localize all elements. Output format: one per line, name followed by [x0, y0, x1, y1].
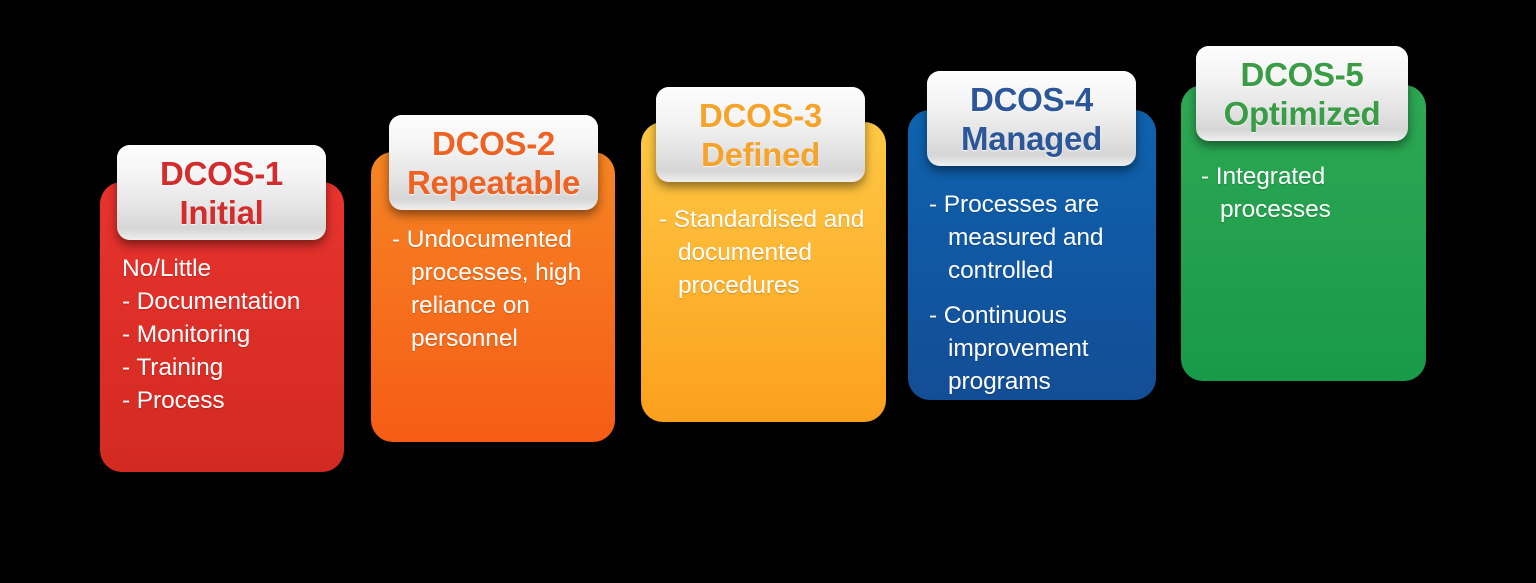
stage-body-dcos-5: - Integrated processes — [1201, 160, 1419, 226]
stage-code: DCOS-3 — [699, 96, 822, 135]
stage-name: Repeatable — [407, 163, 580, 202]
stage-code: DCOS-2 — [432, 124, 555, 163]
stage-name: Optimized — [1224, 94, 1381, 133]
body-line: - Process — [122, 384, 344, 417]
stage-header-dcos-5[interactable]: DCOS-5 Optimized — [1196, 46, 1408, 141]
stage-name: Managed — [961, 119, 1102, 158]
body-line: - Training — [122, 351, 344, 384]
stage-body-dcos-2: - Undocumented processes, high reliance … — [392, 223, 610, 355]
stage-code: DCOS-5 — [1241, 55, 1364, 94]
body-line: - Undocumented processes, high reliance … — [392, 223, 610, 355]
stage-code: DCOS-4 — [970, 80, 1093, 119]
stage-header-dcos-3[interactable]: DCOS-3 Defined — [656, 87, 865, 182]
body-line: - Monitoring — [122, 318, 344, 351]
stage-body-dcos-1: No/Little - Documentation - Monitoring -… — [122, 252, 344, 417]
stage-header-dcos-1[interactable]: DCOS-1 Initial — [117, 145, 326, 240]
body-line: - Continuous improvement programs — [929, 299, 1147, 398]
stage-body-dcos-3: - Standardised and documented procedures — [659, 203, 887, 302]
stage-code: DCOS-1 — [160, 154, 283, 193]
maturity-model-diagram: No/Little - Documentation - Monitoring -… — [0, 0, 1536, 583]
stage-name: Initial — [179, 193, 263, 232]
stage-body-dcos-4: - Processes are measured and controlled … — [929, 188, 1147, 398]
body-line: - Standardised and documented procedures — [659, 203, 887, 302]
body-line: - Integrated processes — [1201, 160, 1419, 226]
body-line: - Documentation — [122, 285, 344, 318]
stage-name: Defined — [701, 135, 820, 174]
stage-header-dcos-4[interactable]: DCOS-4 Managed — [927, 71, 1136, 166]
body-line: No/Little — [122, 252, 344, 285]
body-line: - Processes are measured and controlled — [929, 188, 1147, 287]
stage-header-dcos-2[interactable]: DCOS-2 Repeatable — [389, 115, 598, 210]
